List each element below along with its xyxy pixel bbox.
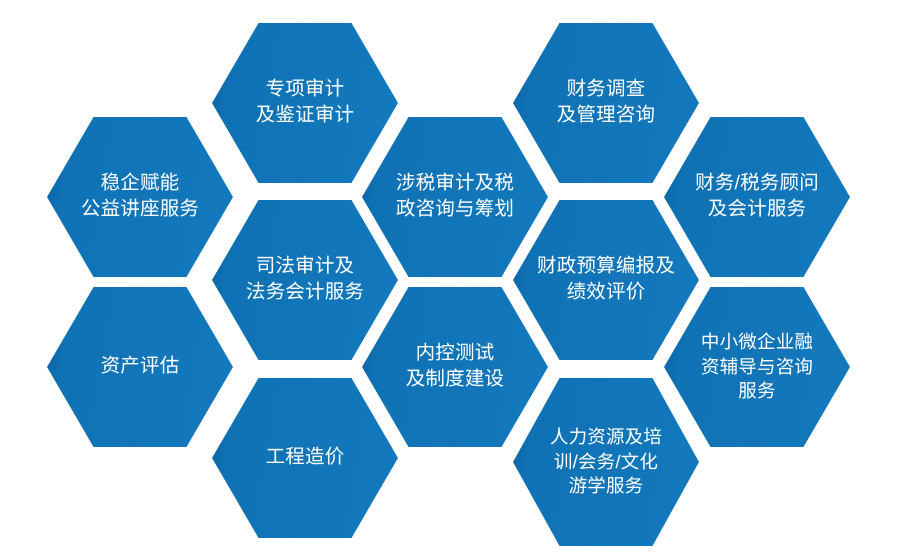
- hex-cell-wenqi-funeng[interactable]: 稳企赋能 公益讲座服务: [47, 117, 233, 277]
- hex-cell-neikong-ceshi[interactable]: 内控测试 及制度建设: [362, 287, 548, 447]
- hex-cell-caizheng-yusuan[interactable]: 财政预算编报及 绩效评价: [513, 200, 699, 360]
- hex-label: 稳企赋能 公益讲座服务: [63, 171, 217, 222]
- hex-label: 工程造价: [248, 445, 363, 471]
- hex-label: 人力资源及培 训/会务/文化 游学服务: [532, 425, 680, 498]
- hex-cell-sifa-shenji[interactable]: 司法审计及 法务会计服务: [212, 200, 398, 360]
- hex-cell-shesui-shenji[interactable]: 涉税审计及税 政咨询与筹划: [362, 117, 548, 277]
- hex-label: 财政预算编报及 绩效评价: [519, 254, 693, 305]
- hex-label: 财务调查 及管理咨询: [539, 77, 674, 128]
- hex-label: 专项审计 及鉴证审计: [238, 77, 373, 128]
- hex-cell-zichan-pinggu[interactable]: 资产评估: [47, 287, 233, 447]
- hex-cell-caiwu-shuiwu-guwen[interactable]: 财务/税务顾问 及会计服务: [664, 117, 850, 277]
- hex-label: 司法审计及 法务会计服务: [228, 254, 382, 305]
- hexagon-diagram-canvas: 专项审计 及鉴证审计 财务调查 及管理咨询 稳企赋能 公益讲座服务 涉税审计及税…: [0, 0, 900, 558]
- hex-cell-caiwu-diaocha[interactable]: 财务调查 及管理咨询: [513, 23, 699, 183]
- hex-cell-renli-ziyuan[interactable]: 人力资源及培 训/会务/文化 游学服务: [513, 378, 699, 546]
- hex-cell-gongcheng-zaojia[interactable]: 工程造价: [212, 378, 398, 538]
- hex-label: 内控测试 及制度建设: [388, 341, 523, 392]
- hex-label: 中小微企业融 资辅导与咨询 服务: [683, 330, 831, 403]
- hex-cell-zhuanxiang-shenji[interactable]: 专项审计 及鉴证审计: [212, 23, 398, 183]
- hex-label: 财务/税务顾问 及会计服务: [677, 171, 837, 222]
- hex-label: 资产评估: [83, 354, 198, 380]
- hex-cell-zhongxiaowei-rongzi[interactable]: 中小微企业融 资辅导与咨询 服务: [664, 287, 850, 447]
- hex-label: 涉税审计及税 政咨询与筹划: [378, 171, 532, 222]
